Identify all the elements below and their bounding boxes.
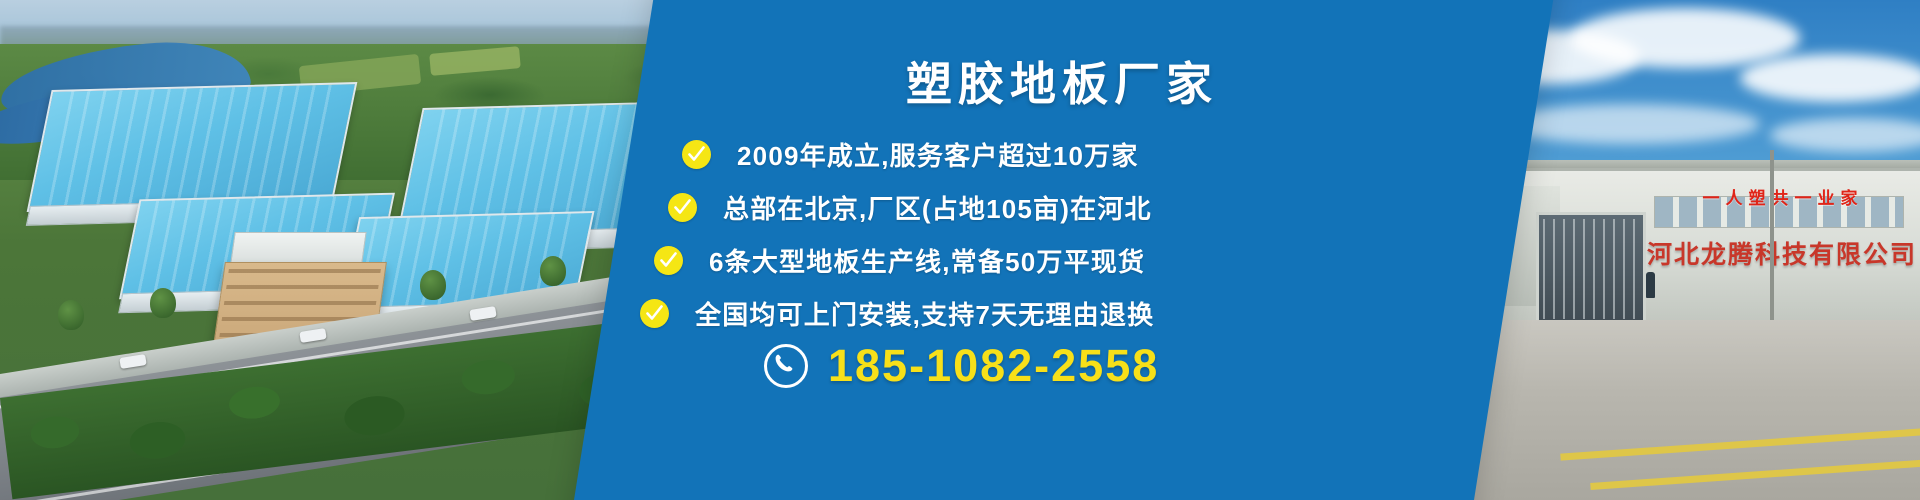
cloud [1500, 104, 1760, 144]
building-sign-company-name: 河北龙腾科技有限公司 [1646, 238, 1918, 272]
page-title: 塑胶地板厂家 [712, 48, 1412, 114]
light-pole [1770, 150, 1774, 320]
cloud [1570, 8, 1800, 68]
tree [58, 300, 84, 330]
building-sign-top: 一人塑共一业家 [1668, 188, 1898, 210]
panel-content: 塑胶地板厂家 2009年成立,服务客户超过10万家 总部在北京,厂区(占地105… [612, 0, 1512, 500]
tree [540, 256, 566, 286]
feature-text: 总部在北京,厂区(占地105亩)在河北 [723, 189, 1152, 226]
contact-phone[interactable]: 185-1082-2558 [612, 340, 1664, 392]
feature-text: 6条大型地板生产线,常备50万平现货 [709, 242, 1145, 279]
tree [150, 288, 176, 318]
list-item: 2009年成立,服务客户超过10万家 [612, 128, 1512, 181]
feature-text: 2009年成立,服务客户超过10万家 [737, 136, 1139, 173]
check-circle-icon [640, 299, 669, 328]
promo-banner: 一人塑共一业家 河北龙腾科技有限公司 塑胶地板厂家 2009年成立,服务客户超过… [0, 0, 1920, 500]
feature-list: 2009年成立,服务客户超过10万家 总部在北京,厂区(占地105亩)在河北 6… [612, 128, 1512, 340]
factory-hall [27, 82, 358, 212]
person [1646, 272, 1655, 298]
feature-text: 全国均可上门安装,支持7天无理由退换 [695, 295, 1154, 332]
phone-number[interactable]: 185-1082-2558 [828, 340, 1159, 392]
check-circle-icon [654, 246, 683, 275]
phone-handset-icon [764, 344, 808, 388]
check-circle-icon [682, 140, 711, 169]
check-circle-icon [668, 193, 697, 222]
tree [420, 270, 446, 300]
list-item: 总部在北京,厂区(占地105亩)在河北 [612, 181, 1512, 234]
list-item: 6条大型地板生产线,常备50万平现货 [612, 234, 1512, 287]
cloud [1740, 54, 1920, 102]
list-item: 全国均可上门安装,支持7天无理由退换 [612, 287, 1512, 340]
factory-gate [1536, 212, 1646, 326]
